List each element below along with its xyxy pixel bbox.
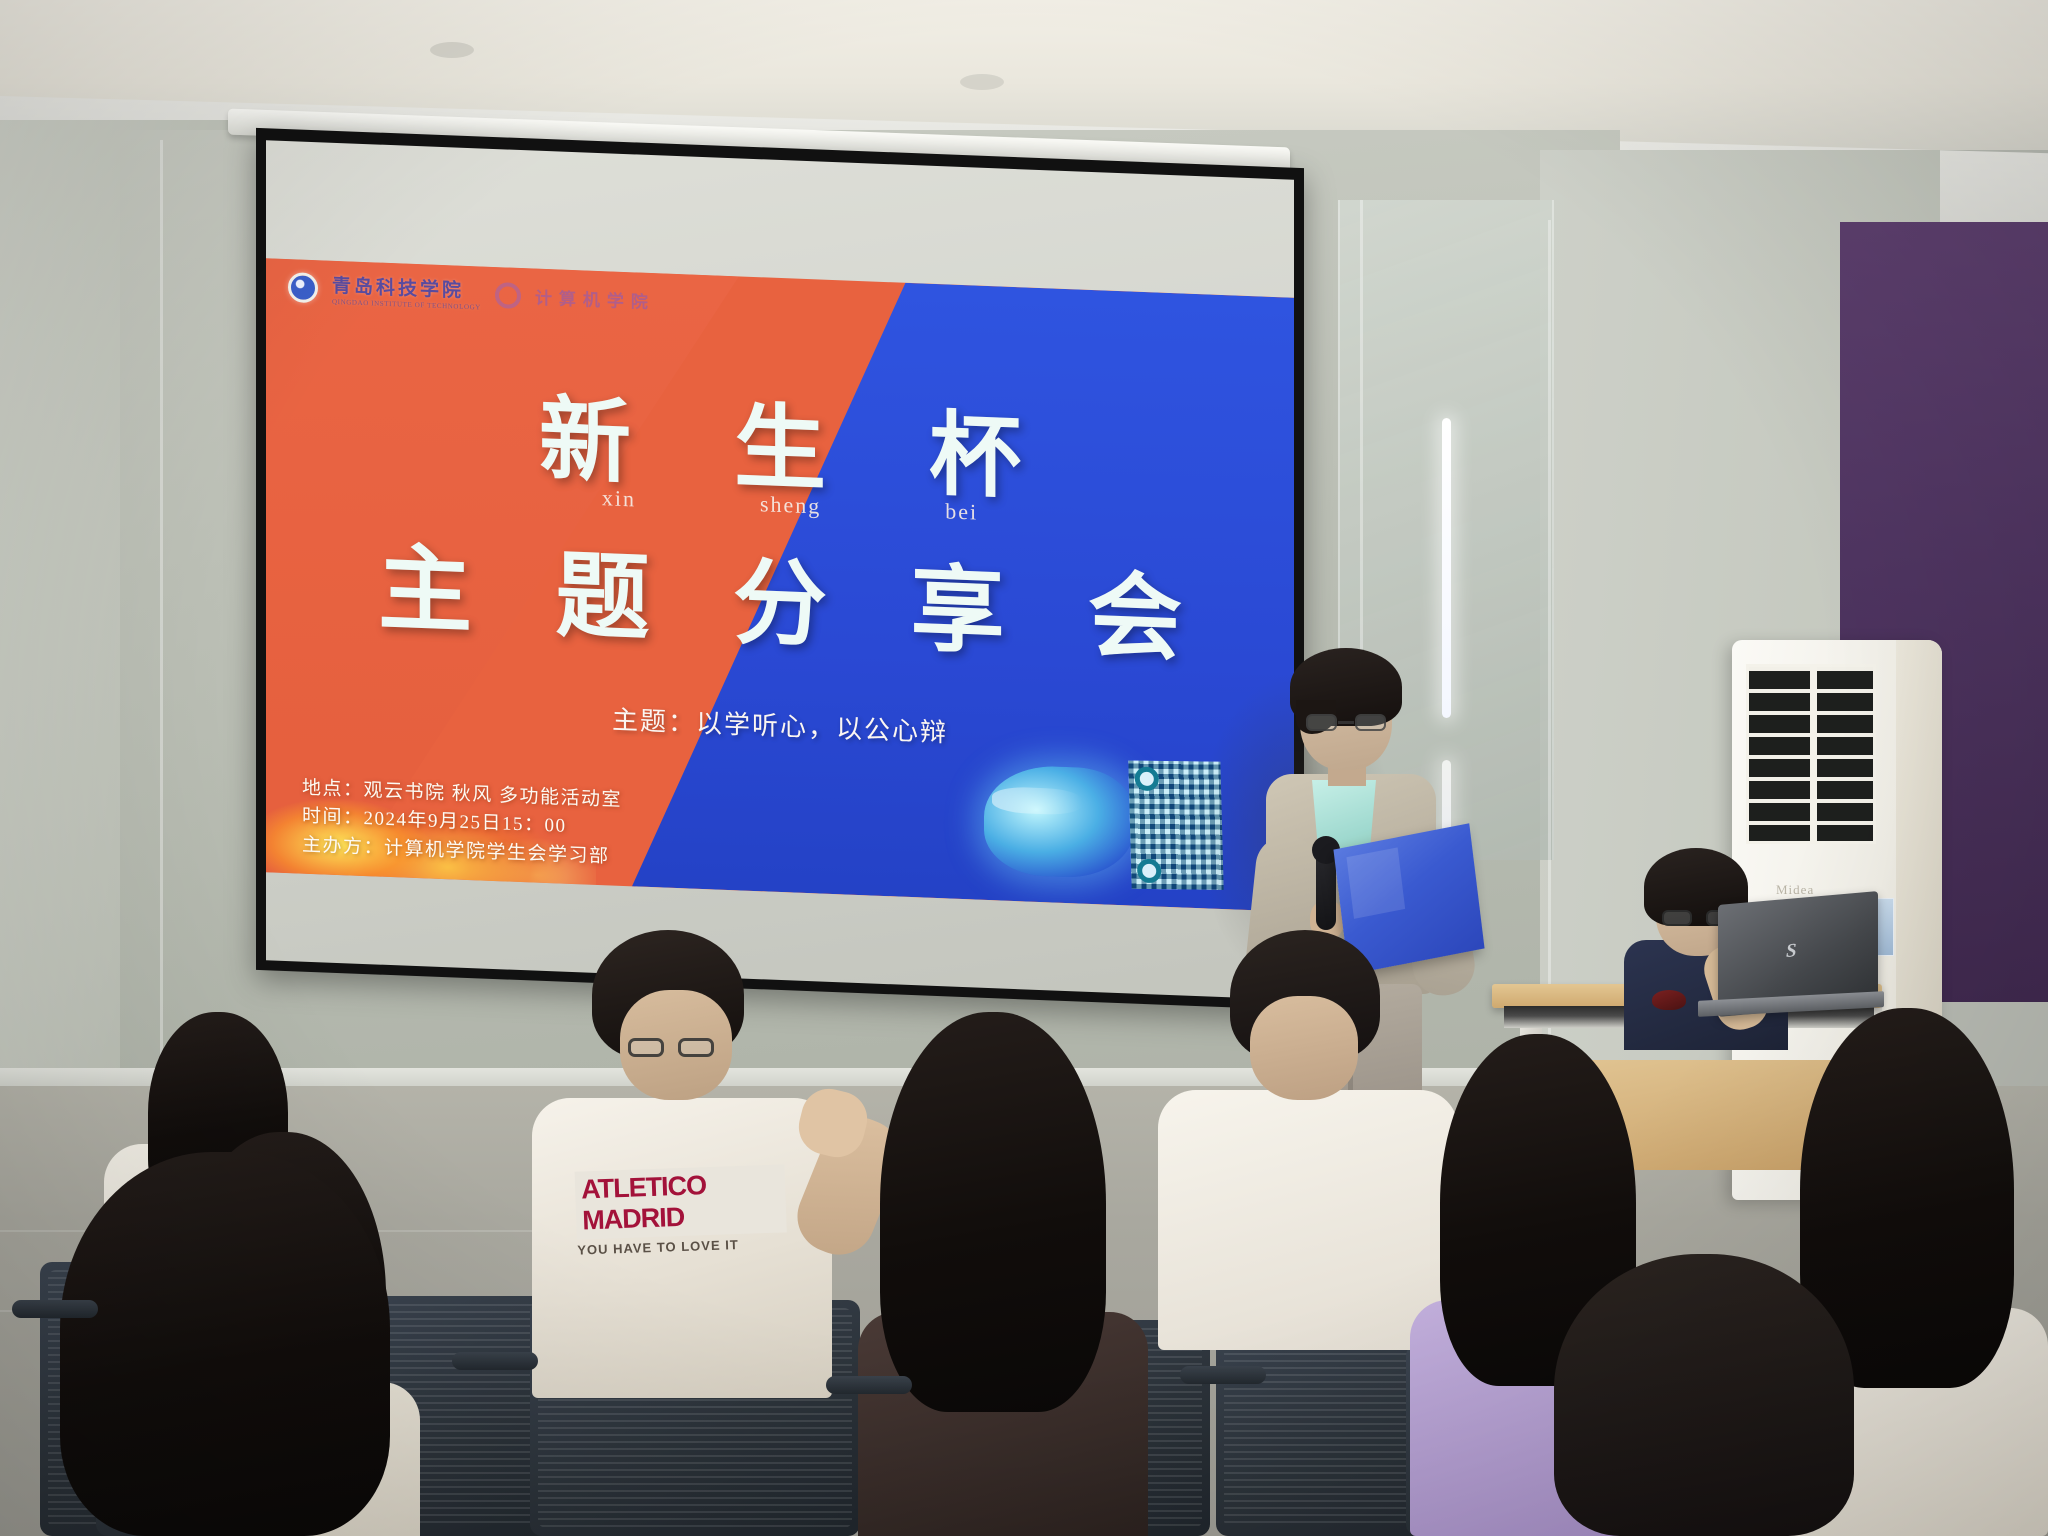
- audience-member: 观众-穿队服男生 ATLETICO MADRID YOU HAVE TO LOV…: [532, 930, 832, 1400]
- audience-member: 观众-前排右: [1524, 1254, 1884, 1536]
- audience-head: [1250, 996, 1358, 1100]
- operator-label: 控场同学: [1622, 848, 1623, 849]
- chair-armrest: [826, 1376, 912, 1394]
- university-crest-icon: [288, 272, 318, 303]
- audience-member: 观众-中间举手女生: [840, 1012, 1160, 1536]
- qr-finder-icon: [1134, 767, 1159, 791]
- slide-info-block: 地点：观云书院 秋风 多功能活动室 时间：2024年9月25日15：00 主办方…: [302, 774, 622, 872]
- audience-label: 观众-中间举手女生: [840, 1012, 841, 1013]
- projection-screen: 青岛科技学院 QINGDAO INSTITUTE OF TECHNOLOGY 计…: [256, 128, 1304, 1010]
- shirt-text-line1: ATLETICO MADRID: [581, 1170, 707, 1235]
- college-mark-icon: [495, 282, 521, 309]
- slide-logo-primary: 青岛科技学院 QINGDAO INSTITUTE OF TECHNOLOGY: [332, 271, 481, 312]
- pinyin-bei: bei: [925, 498, 978, 526]
- glasses-icon: [628, 1038, 714, 1058]
- ceiling-fixture: [960, 74, 1004, 90]
- fist-graphic-icon: [984, 764, 1134, 880]
- microphone-icon: [1316, 848, 1336, 930]
- audience-label: 观众-左一: [96, 1012, 97, 1013]
- mouse-icon[interactable]: [1652, 990, 1686, 1010]
- audience-label: 观众-中右男生: [1158, 930, 1159, 931]
- audience-hair: [880, 1012, 1106, 1412]
- wall-seam: [1548, 220, 1551, 1040]
- glasses-icon: [1306, 714, 1386, 732]
- audience-label: 观众-穿队服男生: [532, 930, 533, 931]
- audience-hair: [1554, 1254, 1854, 1536]
- desk-label: operator-desk: [1492, 984, 1493, 985]
- presenter-label: 发言学生: [1232, 640, 1233, 641]
- ceiling-fixture: [430, 42, 474, 58]
- ac-vent-grille-icon: [1746, 664, 1876, 844]
- chair-armrest: [452, 1352, 538, 1370]
- audience-label: 观众-前排右: [1524, 1254, 1525, 1255]
- audience-label: 观众-左二: [150, 1132, 151, 1133]
- qr-finder-icon: [1137, 859, 1162, 883]
- audience-label: 观众-紫衣女生: [1400, 1034, 1401, 1035]
- laptop-brand-logo-icon: S: [1786, 939, 1810, 965]
- chair-armrest: [1180, 1366, 1266, 1384]
- slide-logo-secondary: 计算机学院: [535, 284, 655, 314]
- audience-hair: [60, 1152, 390, 1536]
- audience-label: 观众-右侧女生: [1756, 1008, 1757, 1009]
- wall-seam: [160, 140, 163, 1100]
- audience-member: 观众-前左: [60, 1152, 390, 1536]
- shirt-print: ATLETICO MADRID YOU HAVE TO LOVE IT: [575, 1164, 788, 1257]
- event-photo-scene: 新生杯主题分享会 · 现场 学生在投影幕前手持话筒与蓝色文件夹发言，台下同学坐在…: [0, 0, 2048, 1536]
- pinyin-xin: xin: [582, 484, 636, 512]
- pinyin-sheng: sheng: [740, 490, 821, 519]
- screen-surface: 青岛科技学院 QINGDAO INSTITUTE OF TECHNOLOGY 计…: [266, 140, 1294, 999]
- presentation-slide: 青岛科技学院 QINGDAO INSTITUTE OF TECHNOLOGY 计…: [266, 258, 1294, 911]
- audience-label: 观众-前左: [60, 1152, 61, 1153]
- chair-armrest: [12, 1300, 98, 1318]
